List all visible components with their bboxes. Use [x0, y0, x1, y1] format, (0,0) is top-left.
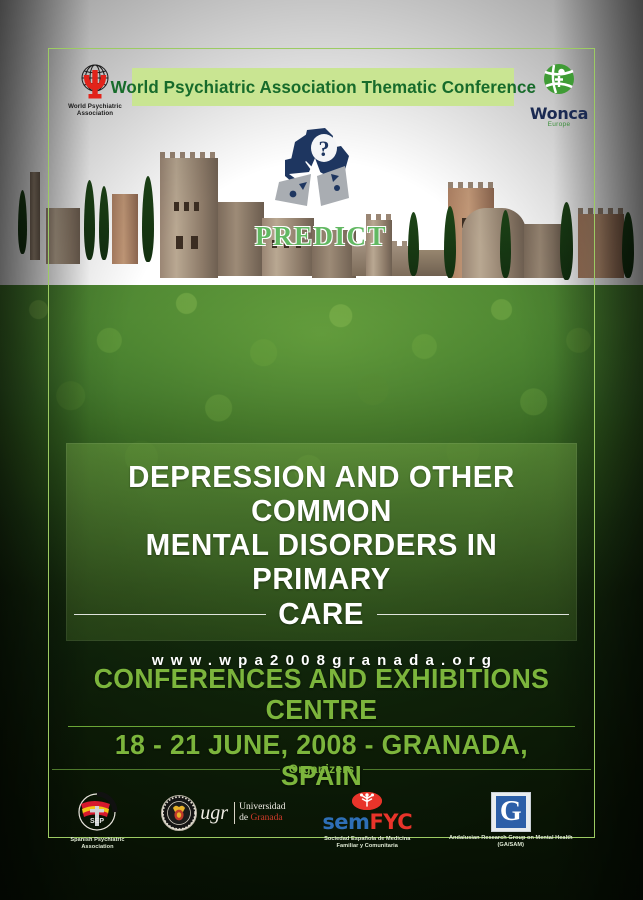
semfyc-tree-icon — [352, 792, 382, 810]
title-rule-left — [74, 614, 266, 615]
poster-header: World Psychiatric Association World Psyc… — [48, 60, 595, 128]
wonca-logo: Wonca Europe — [526, 60, 592, 128]
svg-text:?: ? — [319, 136, 330, 161]
semfyc-logo: semFYC Sociedad Española de Medicina Fam… — [322, 792, 412, 850]
wonca-globe-icon — [526, 60, 592, 105]
semfyc-wordmark: semFYC — [322, 811, 412, 833]
venue-dates: 18 - 21 JUNE, 2008 - GRANADA, SPAIN — [79, 729, 564, 791]
organizers-rule-right — [363, 769, 591, 770]
venue-divider — [68, 726, 575, 727]
predict-wordmark: PREDICT — [255, 221, 385, 252]
conference-poster: World Psychiatric Association World Psyc… — [0, 0, 643, 900]
main-title-panel: DEPRESSION AND OTHER COMMON MENTAL DISOR… — [66, 443, 577, 641]
venue-place: CONFERENCES AND EXHIBITIONS CENTRE — [79, 663, 564, 725]
gasam-caption: Andalusian Research Group on Mental Heal… — [449, 835, 573, 849]
gasam-logo: G Andalusian Research Group on Mental He… — [449, 792, 573, 849]
title-line-3: CARE — [279, 597, 365, 631]
svg-text:SEP: SEP — [90, 818, 104, 825]
ugr-line2: de Granada — [239, 813, 285, 824]
conference-banner-text: World Psychiatric Association Thematic C… — [110, 77, 535, 98]
ugr-seal-icon — [161, 795, 197, 831]
predict-logo: ? PREDICT — [255, 126, 385, 252]
title-line-3-row: CARE — [66, 597, 577, 631]
wpa-caption: World Psychiatric Association — [56, 103, 134, 118]
title-line-2: MENTAL DISORDERS IN PRIMARY — [79, 528, 564, 596]
semfyc-caption: Sociedad Española de Medicina Familiar y… — [322, 836, 412, 850]
ugr-wordmark: ugr — [200, 803, 231, 823]
organizers-row: SEP Spanish Psychiatric Association — [52, 792, 591, 866]
globe-psi-icon — [75, 62, 115, 102]
wonca-name: Wonca — [526, 106, 592, 121]
organizers-heading: Organizers — [289, 762, 355, 776]
ugr-logo: ugr Universidad de Granada — [161, 792, 285, 834]
sep-logo: SEP Spanish Psychiatric Association — [70, 792, 124, 851]
title-line-1: DEPRESSION AND OTHER COMMON — [79, 443, 564, 528]
ugr-line1: Universidad — [239, 802, 285, 813]
spanish-flag-circle-icon: SEP — [74, 792, 120, 834]
title-rule-right — [377, 614, 569, 615]
gasam-letter: G — [492, 793, 530, 831]
letter-g-icon: G — [491, 792, 531, 832]
organizers-heading-row: Organizers — [52, 762, 591, 776]
conference-banner: World Psychiatric Association Thematic C… — [132, 68, 514, 106]
sep-caption: Spanish Psychiatric Association — [70, 837, 124, 851]
organizers-rule-left — [52, 769, 280, 770]
predict-figure-icon: ? — [255, 126, 385, 223]
